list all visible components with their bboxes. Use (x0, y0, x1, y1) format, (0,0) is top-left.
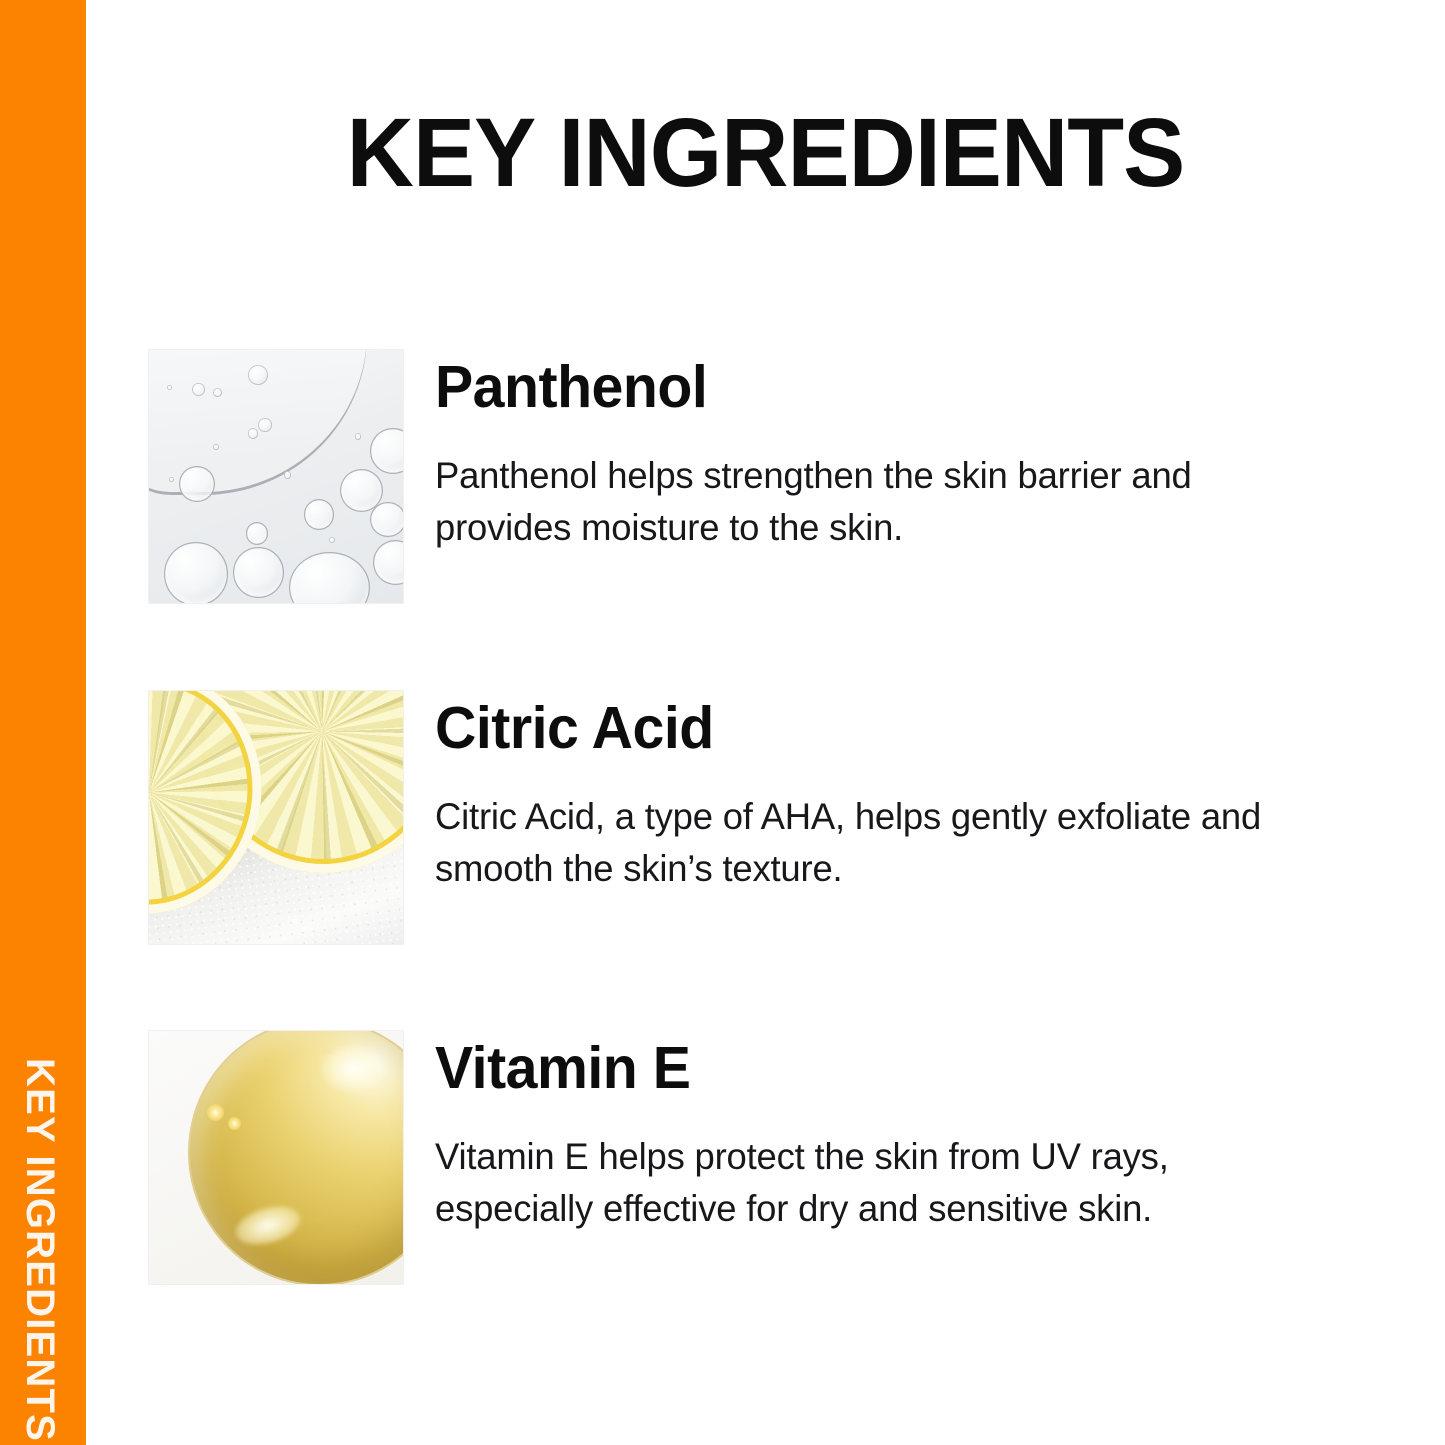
ingredient-row-panthenol: Panthenol Panthenol helps strengthen the… (149, 350, 1379, 604)
ingredient-text-panthenol: Panthenol Panthenol helps strengthen the… (403, 350, 1379, 555)
ingredient-row-citric-acid: Citric Acid Citric Acid, a type of AHA, … (149, 691, 1379, 945)
side-rail-label: KEY INGREDIENTS (17, 1058, 62, 1442)
ingredient-description: Citric Acid, a type of AHA, helps gently… (435, 791, 1322, 896)
ingredient-description: Vitamin E helps protect the skin from UV… (435, 1131, 1322, 1236)
ingredient-text-citric-acid: Citric Acid Citric Acid, a type of AHA, … (403, 691, 1379, 896)
ingredient-name: Citric Acid (435, 697, 1351, 761)
ingredient-image-vitamin-e (149, 1031, 403, 1284)
side-rail: KEY INGREDIENTS (0, 0, 86, 1445)
ingredient-description: Panthenol helps strengthen the skin barr… (435, 450, 1322, 555)
ingredient-row-vitamin-e: Vitamin E Vitamin E helps protect the sk… (149, 1031, 1379, 1285)
ingredient-image-panthenol (149, 350, 403, 603)
key-ingredients-infographic: KEY INGREDIENTS KEY INGREDIENTS (0, 0, 1445, 1445)
page-title: KEY INGREDIENTS (113, 104, 1418, 201)
ingredient-name: Vitamin E (435, 1037, 1351, 1101)
clear-gel-bubbles-icon (149, 350, 403, 603)
lemon-slices-on-sugar-icon (149, 691, 403, 944)
ingredient-name: Panthenol (435, 356, 1351, 420)
ingredient-image-citric-acid (149, 691, 403, 944)
golden-oil-droplet-icon (149, 1031, 403, 1284)
ingredient-text-vitamin-e: Vitamin E Vitamin E helps protect the sk… (403, 1031, 1379, 1236)
